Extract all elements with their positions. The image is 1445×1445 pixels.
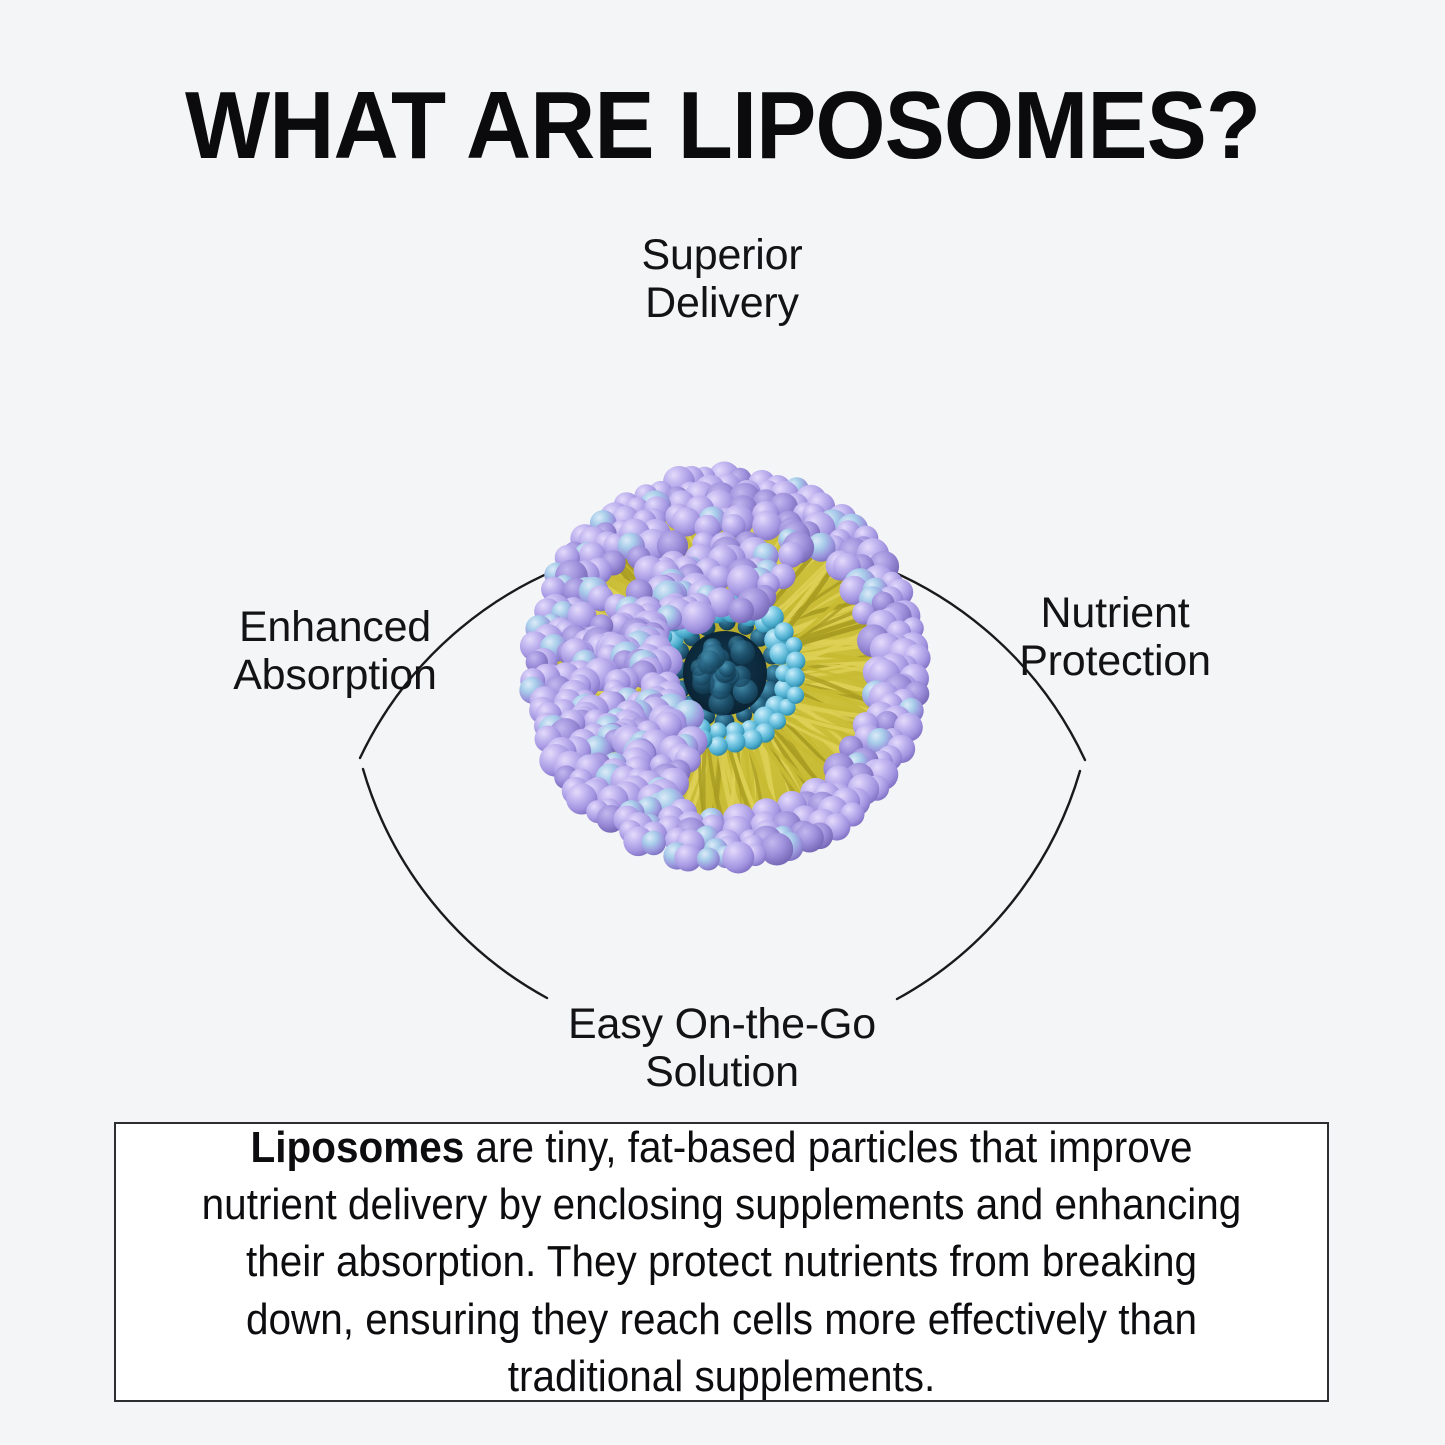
ring-label-nutrient-protection: Nutrient Protection [950,589,1280,685]
ring-label-line1: Superior [472,231,972,279]
liposome-illustration: {} [506,447,944,891]
page-title: WHAT ARE LIPOSOMES? [43,78,1401,174]
ring-label-line1: Easy On-the-Go [472,1000,972,1048]
benefit-ring-diagram: {} Superior Delivery Nutrient Protection [0,175,1445,1115]
description-text: Liposomes are tiny, fat-based particles … [164,1119,1278,1405]
infographic-page: WHAT ARE LIPOSOMES? [0,0,1445,1445]
ring-label-enhanced-absorption: Enhanced Absorption [170,603,500,699]
ring-label-line1: Enhanced [170,603,500,651]
ring-label-line2: Protection [950,637,1280,685]
ring-label-superior-delivery: Superior Delivery [472,231,972,327]
ring-label-line2: Absorption [170,651,500,699]
ring-label-line1: Nutrient [950,589,1280,637]
liposome-graphic: {} [506,447,944,891]
ring-label-line2: Delivery [472,279,972,327]
ring-label-easy-on-the-go-solution: Easy On-the-Go Solution [472,1000,972,1096]
description-lead: Liposomes [251,1123,465,1172]
description-box: Liposomes are tiny, fat-based particles … [114,1122,1329,1402]
ring-label-line2: Solution [472,1048,972,1096]
